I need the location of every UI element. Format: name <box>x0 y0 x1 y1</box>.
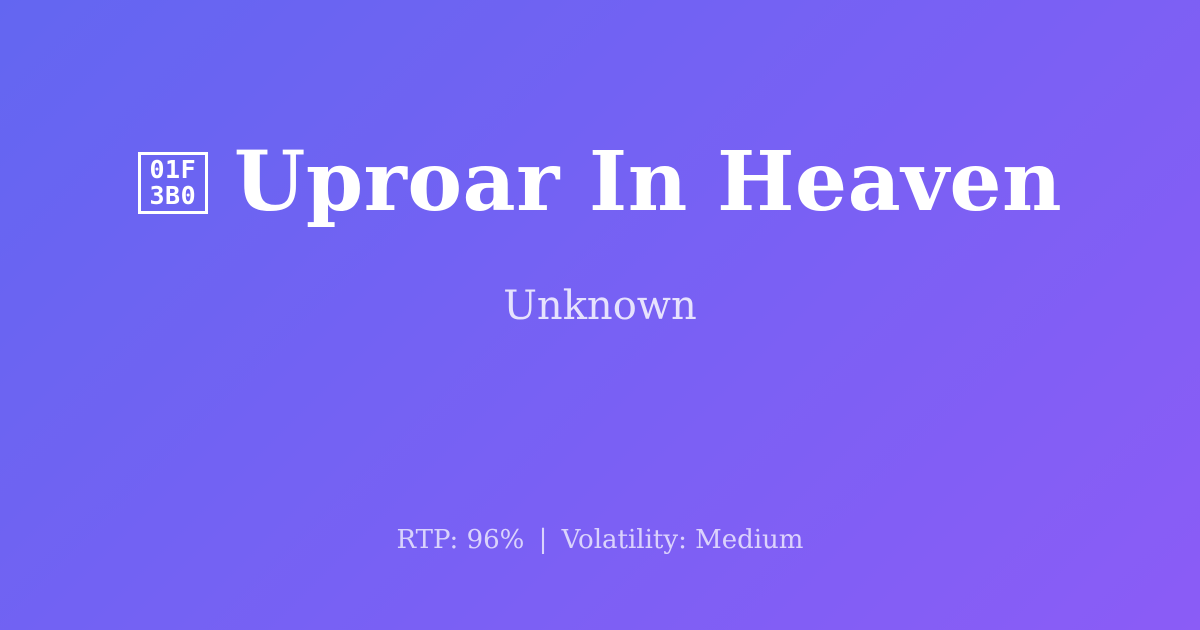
rtp-value: RTP: 96% <box>397 525 525 555</box>
game-stats: RTP: 96% | Volatility: Medium <box>0 524 1200 558</box>
provider-name: Unknown <box>503 282 697 330</box>
slot-machine-icon-codepoint-row-2: 3B0 <box>149 183 196 209</box>
page-title: Uproar In Heaven <box>234 140 1062 225</box>
volatility-value: Volatility: Medium <box>562 525 804 555</box>
stats-separator: | <box>533 525 554 555</box>
slot-machine-icon-codepoint-row-1: 01F <box>149 157 196 183</box>
slot-machine-icon: 01F 3B0 <box>138 152 208 214</box>
og-card: 01F 3B0 Uproar In Heaven Unknown RTP: 96… <box>0 0 1200 630</box>
hero-block: 01F 3B0 Uproar In Heaven Unknown <box>0 0 1200 470</box>
title-row: 01F 3B0 Uproar In Heaven <box>138 140 1062 225</box>
